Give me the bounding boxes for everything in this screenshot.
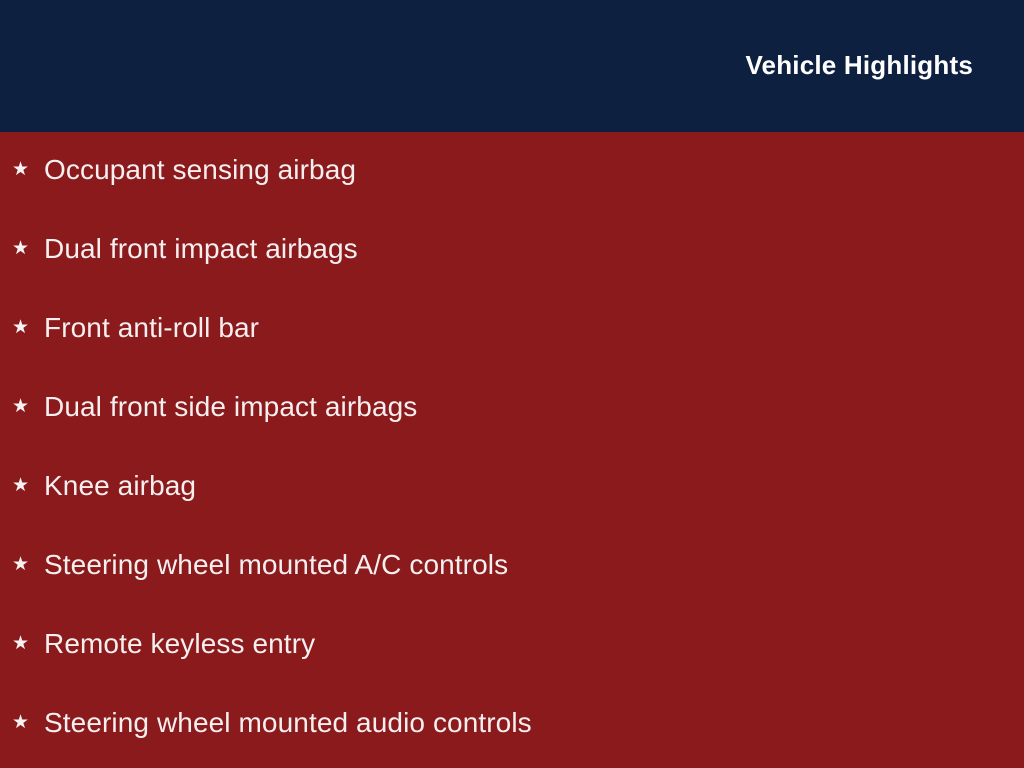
slide-body: ★Occupant sensing airbag★Dual front impa… — [0, 132, 1024, 768]
star-bullet-icon: ★ — [12, 397, 44, 416]
slide-vehicle-highlights: Vehicle Highlights ★Occupant sensing air… — [0, 0, 1024, 768]
list-item: ★Dual front impact airbags — [12, 229, 358, 269]
list-item: ★Occupant sensing airbag — [12, 150, 356, 190]
slide-header: Vehicle Highlights — [0, 0, 1024, 132]
star-bullet-icon: ★ — [12, 476, 44, 495]
list-item: ★Front anti-roll bar — [12, 308, 259, 348]
feature-label: Steering wheel mounted A/C controls — [44, 551, 508, 579]
list-item: ★Dual front side impact airbags — [12, 387, 417, 427]
feature-label: Knee airbag — [44, 472, 196, 500]
star-bullet-icon: ★ — [12, 239, 44, 258]
star-bullet-icon: ★ — [12, 318, 44, 337]
list-item: ★Knee airbag — [12, 466, 196, 506]
feature-label: Remote keyless entry — [44, 630, 315, 658]
star-bullet-icon: ★ — [12, 713, 44, 732]
list-item: ★Steering wheel mounted A/C controls — [12, 545, 508, 585]
star-bullet-icon: ★ — [12, 634, 44, 653]
feature-label: Steering wheel mounted audio controls — [44, 709, 532, 737]
list-item: ★Remote keyless entry — [12, 624, 315, 664]
star-bullet-icon: ★ — [12, 160, 44, 179]
feature-label: Front anti-roll bar — [44, 314, 259, 342]
page-title: Vehicle Highlights — [745, 52, 973, 78]
feature-label: Dual front impact airbags — [44, 235, 358, 263]
feature-label: Occupant sensing airbag — [44, 156, 356, 184]
list-item: ★Steering wheel mounted audio controls — [12, 703, 532, 743]
feature-label: Dual front side impact airbags — [44, 393, 417, 421]
star-bullet-icon: ★ — [12, 555, 44, 574]
